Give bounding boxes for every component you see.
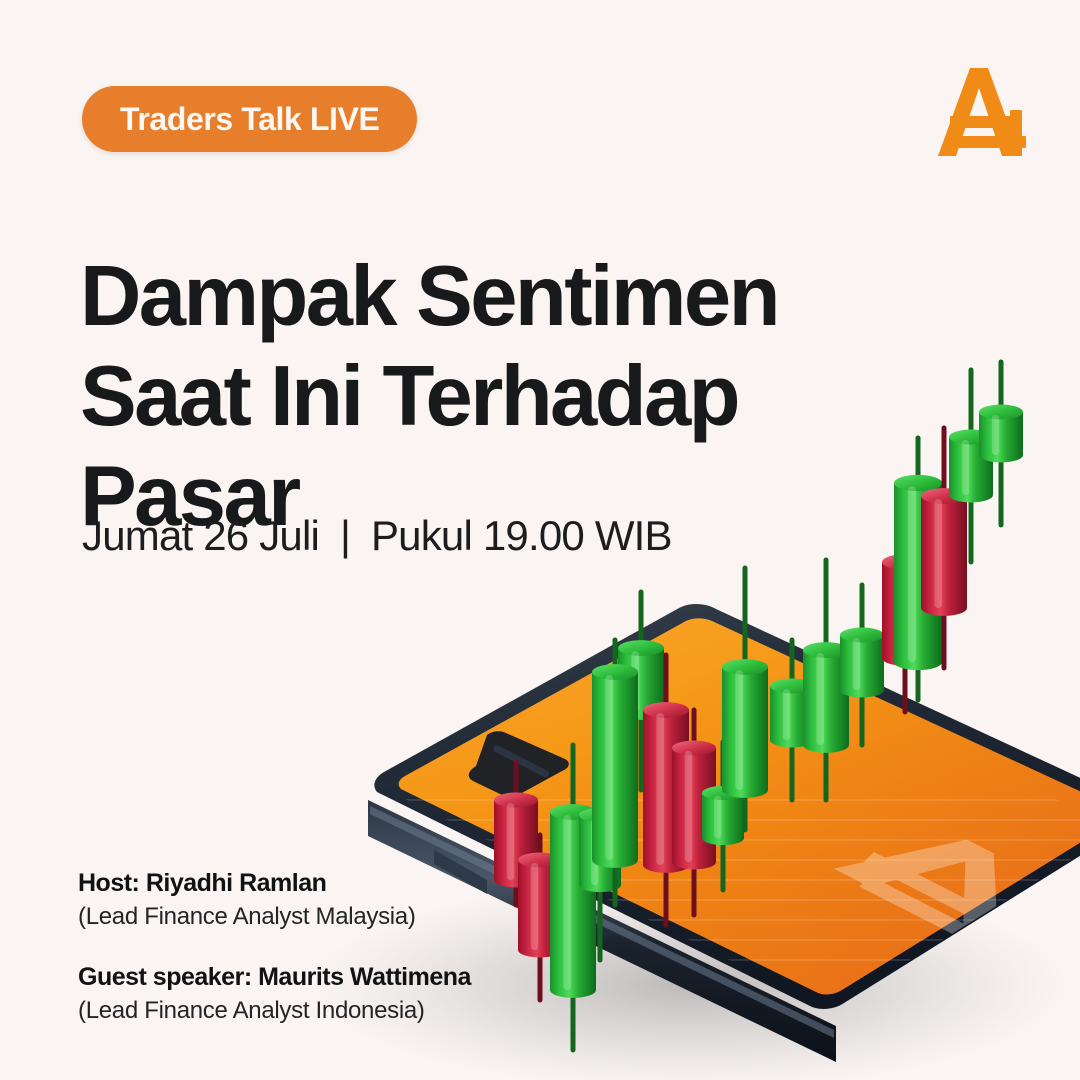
candle-body <box>550 812 596 998</box>
page-title: Dampak Sentimen Saat Ini Terhadap Pasar <box>80 247 800 547</box>
candle-cap <box>643 702 689 718</box>
headline-line-2: Saat Ini Terhadap <box>80 347 800 447</box>
candle-highlight <box>605 675 613 860</box>
candlestick-6 <box>592 640 638 905</box>
speaker-credits: Host: Riyadhi Ramlan (Lead Finance Analy… <box>78 866 471 1028</box>
candlestick-18 <box>979 362 1023 525</box>
phone-screen <box>399 618 1080 994</box>
candle-body <box>722 667 768 798</box>
candle-cap <box>550 804 596 820</box>
candlestick-1 <box>494 762 538 905</box>
candle-body <box>494 800 538 887</box>
candle-body <box>921 496 967 616</box>
candle-cap <box>722 659 768 675</box>
candlestick-5 <box>618 592 664 790</box>
candlestick-12 <box>803 560 849 800</box>
candle-body <box>618 648 664 720</box>
phone-device <box>368 604 1080 1062</box>
badge-label: Traders Talk LIVE <box>120 101 379 138</box>
candlestick-7 <box>643 655 689 925</box>
candle-highlight <box>656 713 664 865</box>
candlestick-4 <box>579 752 621 960</box>
candle-highlight <box>816 653 824 745</box>
candle-body <box>840 635 884 697</box>
candlestick-11 <box>770 640 814 800</box>
candle-body <box>592 672 638 868</box>
candle-highlight <box>685 751 692 862</box>
candle-highlight <box>591 818 598 885</box>
host-name: Host: Riyadhi Ramlan <box>78 866 471 900</box>
candle-body <box>702 793 744 845</box>
candlestick-2 <box>518 835 562 1000</box>
candle-highlight <box>853 638 860 690</box>
screen-scanlines <box>400 800 1080 960</box>
candle-highlight <box>563 815 571 990</box>
candle-highlight <box>934 499 942 608</box>
screen-watermark-logo <box>821 804 1080 992</box>
candle-cap <box>702 786 744 800</box>
candle-highlight <box>735 670 743 790</box>
guest-credit: Guest speaker: Maurits Wattimena (Lead F… <box>78 960 471 1028</box>
candle-cap <box>979 405 1023 420</box>
headline-line-1: Dampak Sentimen <box>80 247 800 347</box>
candle-highlight <box>992 415 999 455</box>
event-time: Pukul 19.00 WIB <box>371 512 672 559</box>
candlestick-16 <box>921 428 967 668</box>
poster-canvas: Traders Talk LIVE Dampak Sentimen Saat I… <box>0 0 1080 1080</box>
candle-body <box>979 412 1023 462</box>
candlestick-14 <box>882 510 928 712</box>
candlestick-15 <box>894 438 942 700</box>
candle-cap <box>882 554 928 570</box>
candle-highlight <box>908 486 916 662</box>
candle-body <box>672 748 716 869</box>
guest-name: Guest speaker: Maurits Wattimena <box>78 960 471 994</box>
candle-cap <box>579 808 621 822</box>
phone-bezel <box>374 604 1080 1009</box>
candle-cap <box>949 430 993 445</box>
candle-body <box>894 483 942 670</box>
candle-cap <box>518 853 562 868</box>
candle-highlight <box>714 796 721 838</box>
candle-highlight <box>783 689 790 740</box>
candlestick-9 <box>702 742 744 890</box>
candle-cap <box>618 640 664 656</box>
candle-cap <box>770 679 814 694</box>
candle-cap <box>840 628 884 643</box>
candle-highlight <box>531 863 538 950</box>
candle-highlight <box>631 651 639 712</box>
candle-cap <box>803 642 849 658</box>
phone-notch <box>469 731 569 796</box>
candle-body <box>803 650 849 753</box>
candle-body <box>579 815 621 892</box>
candle-cap <box>672 741 716 756</box>
host-credit: Host: Riyadhi Ramlan (Lead Finance Analy… <box>78 866 471 934</box>
candle-body <box>518 860 562 957</box>
candle-cap <box>921 488 967 504</box>
event-datetime: Jumat 26 Juli | Pukul 19.00 WIB <box>82 512 672 560</box>
candle-cap <box>894 475 942 491</box>
candlestick-17 <box>949 370 993 562</box>
host-role: (Lead Finance Analyst Malaysia) <box>78 900 471 934</box>
candlestick-13 <box>840 585 884 745</box>
candle-highlight <box>507 803 514 880</box>
candle-body <box>949 437 993 502</box>
candle-cap <box>592 664 638 680</box>
brand-a-logo[interactable] <box>932 60 1028 164</box>
candlestick-10 <box>722 568 768 830</box>
candle-highlight <box>895 565 903 658</box>
candle-highlight <box>962 440 969 495</box>
datetime-separator: | <box>340 512 350 560</box>
candle-cap <box>494 793 538 808</box>
candlestick-3 <box>550 745 596 1050</box>
guest-role: (Lead Finance Analyst Indonesia) <box>78 994 471 1028</box>
traders-talk-live-badge[interactable]: Traders Talk LIVE <box>82 86 417 152</box>
candlestick-8 <box>672 710 716 915</box>
candle-body <box>643 710 689 873</box>
phone-speaker-grill <box>492 744 550 778</box>
screen-glow <box>399 618 1080 994</box>
event-date: Jumat 26 Juli <box>82 512 319 559</box>
candle-body <box>770 686 814 747</box>
candle-body <box>882 562 928 666</box>
